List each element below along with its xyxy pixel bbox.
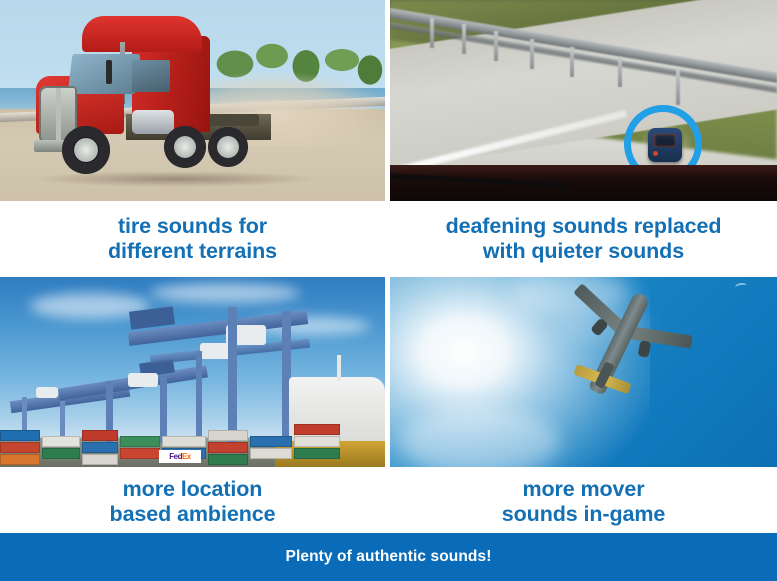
container: [82, 430, 118, 441]
distant-bird: [734, 282, 747, 291]
container: [250, 448, 292, 459]
truck-fuel-tank: [132, 110, 174, 134]
caption-line-2: with quieter sounds: [483, 239, 684, 264]
container: [294, 448, 340, 459]
ship-mast: [337, 355, 341, 381]
caption-tire-sounds: tire sounds for different terrains: [0, 201, 385, 272]
dashcam-road-image: [390, 0, 777, 201]
caption-line-1: more location: [123, 477, 263, 502]
caption-location-ambience: more location based ambience: [0, 467, 385, 533]
container: [294, 436, 340, 447]
caption-line-1: more mover: [522, 477, 644, 502]
crane-machinery-house: [128, 373, 158, 387]
caption-line-1: deafening sounds replaced: [446, 214, 722, 239]
caption-line-1: tire sounds for: [118, 214, 267, 239]
middle-wheel: [164, 126, 206, 168]
container: [208, 442, 248, 453]
shipping-port-image: FedEx: [0, 277, 385, 467]
caption-line-2: based ambience: [110, 502, 276, 527]
container: [120, 436, 160, 447]
feature-cell-mover-sounds: more mover sounds in-game: [385, 272, 777, 533]
guardrail-post: [494, 31, 498, 61]
fedex-logo-ex: Ex: [182, 452, 191, 461]
cloud: [150, 283, 300, 303]
truck-cab-roof: [82, 16, 202, 52]
container: [294, 424, 340, 435]
container: [120, 448, 160, 459]
container: [42, 448, 80, 459]
container: [0, 442, 40, 453]
sound-features-infographic: tire sounds for different terrains: [0, 0, 777, 581]
rear-wheel: [208, 127, 248, 167]
truck-mirror: [106, 60, 112, 84]
truck-dirt-road-image: [0, 0, 385, 201]
feature-grid: tire sounds for different terrains: [0, 0, 777, 533]
fedex-logo: FedEx: [159, 450, 201, 463]
guardrail-post: [676, 69, 680, 105]
car-dashboard: [390, 165, 777, 201]
container: [82, 442, 118, 453]
container: [82, 454, 118, 465]
feature-cell-location-ambience: FedEx more location based ambience: [0, 272, 385, 533]
front-wheel: [62, 126, 110, 174]
truck-windshield: [68, 54, 141, 94]
footer-text: Plenty of authentic sounds!: [286, 548, 492, 566]
container: [208, 430, 248, 441]
container: [208, 454, 248, 465]
airplane-sky-image: [390, 277, 777, 467]
container: [0, 430, 40, 441]
fedex-logo-fed: Fed: [169, 452, 182, 461]
caption-deafening-sounds: deafening sounds replaced with quieter s…: [390, 201, 777, 272]
red-semi-truck: [22, 14, 267, 184]
feature-cell-deafening-sounds: deafening sounds replaced with quieter s…: [385, 0, 777, 272]
caption-line-2: different terrains: [108, 239, 277, 264]
guardrail-post: [570, 47, 574, 77]
feature-cell-tire-sounds: tire sounds for different terrains: [0, 0, 385, 272]
container: [250, 436, 292, 447]
grille-center-bar: [56, 88, 61, 142]
caption-line-2: sounds in-game: [502, 502, 665, 527]
guardrail-post: [462, 24, 466, 54]
container: [42, 436, 80, 447]
right-engine: [638, 340, 652, 358]
guardrail-post: [530, 39, 534, 69]
container: [162, 436, 206, 447]
container: [0, 454, 40, 465]
crane-machinery-house: [36, 387, 58, 398]
guardrail-post: [430, 18, 434, 48]
caption-mover-sounds: more mover sounds in-game: [390, 467, 777, 533]
footer-banner: Plenty of authentic sounds!: [0, 533, 777, 581]
guardrail-post: [618, 57, 622, 87]
truck-side-window: [132, 60, 170, 92]
